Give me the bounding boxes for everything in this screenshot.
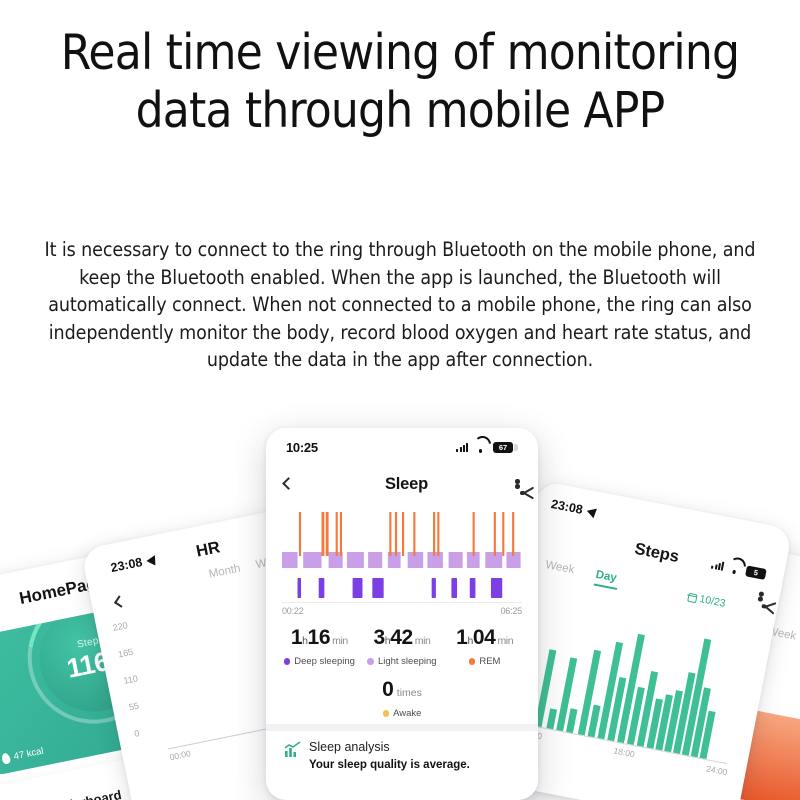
awake-unit: times: [397, 687, 422, 699]
analysis-title: Sleep analysis: [309, 740, 470, 754]
leaderboard-row: Leaderboard: [11, 783, 123, 800]
stat-rem: 1h04min REM: [443, 626, 526, 667]
status-icons: 67: [456, 442, 518, 453]
battery-icon: 67: [493, 442, 513, 453]
leaderboard-title: Leaderboard: [42, 787, 122, 800]
battery-tip-icon: [514, 444, 518, 451]
chart-end-time: 06:25: [500, 606, 522, 616]
stat-value: 3h42min: [361, 626, 444, 650]
poster-root: Real time viewing of monitoring data thr…: [0, 0, 800, 800]
range-tabs-steps[interactable]: Week Day: [543, 559, 620, 590]
stat-awake: 0times Awake: [266, 678, 538, 719]
location-arrow-icon: [587, 505, 600, 518]
stat-label: Light sleeping: [378, 656, 437, 667]
stat-label: Deep sleeping: [294, 656, 355, 667]
stat-minutes: 42: [390, 626, 413, 649]
calendar-icon: [687, 592, 698, 603]
wifi-icon: [727, 562, 742, 574]
stat-legend: REM: [443, 656, 526, 667]
stat-legend: Light sleeping: [361, 656, 444, 667]
status-time: 10:25: [286, 440, 318, 455]
tab-day[interactable]: Day: [594, 569, 621, 590]
chart-baseline: [282, 602, 522, 603]
sleep-hypnogram-chart: [282, 512, 522, 598]
date-value: 10/23: [698, 593, 726, 610]
section-divider: [266, 724, 538, 731]
stat-deep-sleeping: 1h16min Deep sleeping: [278, 626, 361, 667]
x-tick: 18:00: [613, 745, 636, 759]
wifi-icon: [474, 443, 487, 453]
stat-legend: Awake: [266, 708, 538, 719]
stat-hours: 1: [291, 626, 302, 649]
tab-week[interactable]: Week: [544, 559, 575, 576]
status-bar: 10:25 67: [266, 440, 538, 455]
chart-analysis-icon: [284, 741, 301, 758]
x-tick: 24:00: [705, 763, 728, 777]
stat-legend: Deep sleeping: [278, 656, 361, 667]
legend-dot-icon: [367, 658, 374, 665]
calories-readout: 47 kcal: [1, 746, 44, 765]
stat-hours: 3: [373, 626, 384, 649]
sleep-stats-row: 1h16min Deep sleeping 3h42min Light slee…: [278, 626, 526, 667]
sleep-time-axis: 00:22 06:25: [282, 606, 522, 616]
date-picker[interactable]: 10/23: [687, 591, 727, 610]
stat-minutes-unit: min: [415, 635, 431, 647]
back-button[interactable]: [284, 475, 293, 493]
flame-icon: [1, 752, 12, 765]
cellular-signal-icon: [711, 560, 724, 571]
page-title: Real time viewing of monitoring data thr…: [60, 24, 740, 140]
legend-dot-icon: [284, 658, 291, 665]
sleep-analysis-section[interactable]: Sleep analysis Your sleep quality is ave…: [284, 740, 520, 771]
calories-value: 47 kcal: [13, 746, 45, 763]
chevron-left-icon: [282, 477, 295, 490]
hypnogram-svg: [282, 512, 522, 598]
phone-sleep[interactable]: 10:25 67 Sleep: [266, 428, 538, 800]
stat-value: 1h04min: [443, 626, 526, 650]
stat-value: 1h16min: [278, 626, 361, 650]
page-description: It is necessary to connect to the ring t…: [40, 236, 760, 374]
chart-start-time: 00:22: [282, 606, 304, 616]
awake-count: 0: [382, 678, 394, 701]
status-time-text: 23:08: [550, 497, 584, 517]
stat-label: Awake: [393, 708, 421, 719]
back-button[interactable]: [114, 592, 126, 611]
stat-minutes-unit: min: [497, 635, 513, 647]
stat-label: REM: [479, 656, 500, 667]
stat-minutes: 04: [473, 626, 496, 649]
tab-month[interactable]: Month: [208, 563, 242, 581]
stat-light-sleeping: 3h42min Light sleeping: [361, 626, 444, 667]
analysis-subtitle: Your sleep quality is average.: [309, 759, 470, 771]
page-title-sleep: Sleep: [385, 475, 428, 494]
cellular-signal-icon: [456, 443, 468, 452]
legend-dot-icon: [469, 658, 476, 665]
stat-minutes: 16: [308, 626, 331, 649]
x-tick: 00:00: [169, 748, 192, 762]
status-time: 23:08: [550, 497, 600, 520]
legend-dot-icon: [383, 710, 390, 717]
chevron-left-icon: [114, 595, 126, 607]
y-tick: 0: [133, 722, 172, 755]
stat-hours: 1: [456, 626, 467, 649]
stat-minutes-unit: min: [332, 635, 348, 647]
nav-bar: Sleep: [266, 468, 538, 500]
phone-mockup-stage: 10:25 HomePage Steps 1162 10000 47 kcal: [0, 410, 800, 800]
stat-value: 0times: [266, 678, 538, 702]
